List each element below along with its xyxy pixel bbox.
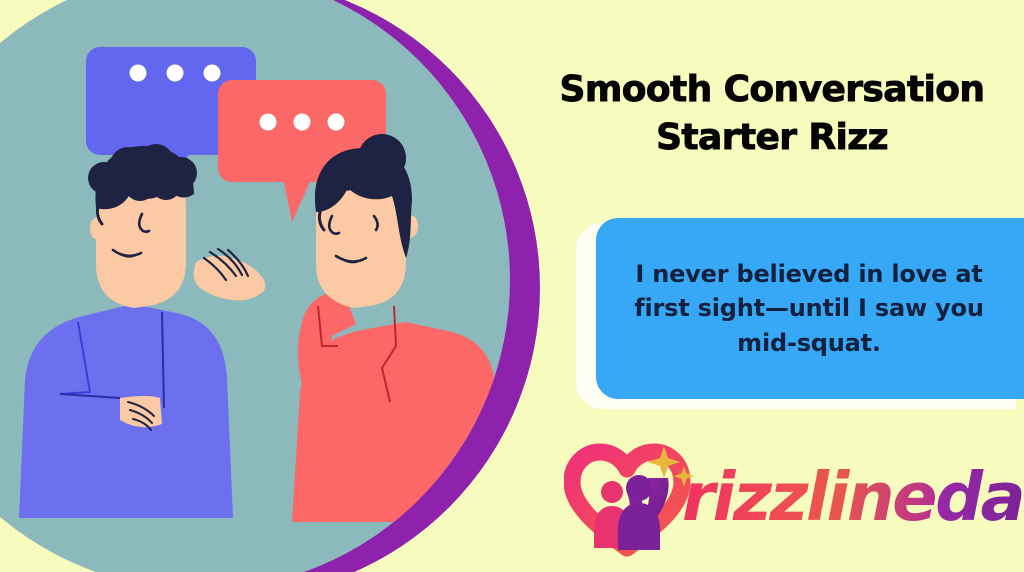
brand-wordmark-part-two: dairy [935,458,1024,536]
page-title: Smooth Conversation Starter Rizz [520,66,1024,162]
brand-wordmark: rizzlinedairy [682,464,1024,531]
left-person-figure [19,144,233,518]
quote-text: I never believed in love at first sight—… [596,257,1024,359]
right-person-figure [194,134,504,522]
content-column: Smooth Conversation Starter Rizz I never… [520,0,1024,572]
illustration-panel [0,0,560,572]
brand-wordmark-part-one: rizzline [682,458,935,536]
quote-card: I never believed in love at first sight—… [596,218,1024,399]
poster-canvas: Smooth Conversation Starter Rizz I never… [0,0,1024,572]
brand-logo[interactable]: rizzlinedairy [564,438,1024,558]
heart-with-two-people-icon [564,438,694,558]
headline-line-2: Starter Rizz [656,117,888,158]
quote-card-wrapper: I never believed in love at first sight—… [576,218,1024,406]
headline-line-1: Smooth Conversation [560,69,985,110]
conversation-artwork [0,0,560,572]
